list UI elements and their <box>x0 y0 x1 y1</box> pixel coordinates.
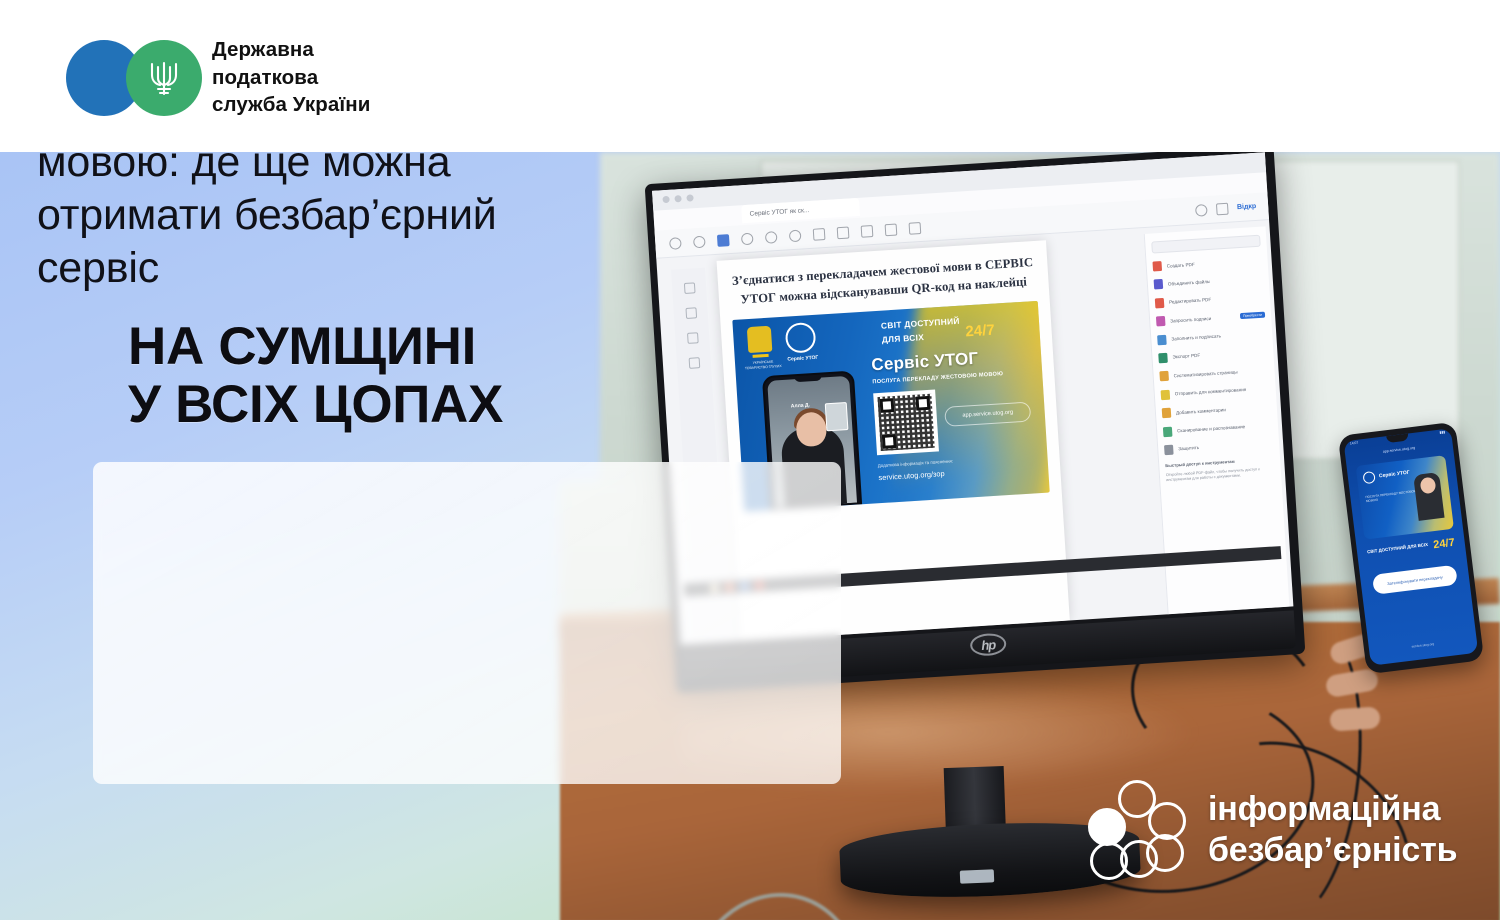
phone-service-card: Сервіс УТОГ ПОСЛУГА ПЕРЕКЛАДУ ЖЕСТОВОЮ М… <box>1356 455 1454 539</box>
tools-list-item[interactable]: Систематизировать страницы <box>1159 365 1268 382</box>
picture-in-picture <box>825 402 849 431</box>
tools-list-item[interactable]: Редактировать PDF <box>1155 291 1264 308</box>
accessibility-dots <box>1088 778 1192 882</box>
attachment-icon[interactable] <box>687 332 699 344</box>
accessibility-logo-text: інформаційна безбар’єрність <box>1208 789 1457 871</box>
utog-org-sublabel: УКРАЇНСЬКЕ ТОВАРИСТВО ГЛУХИХ <box>743 359 783 370</box>
tool-label: Сканирование и распознавание <box>1177 424 1245 433</box>
tool-icon <box>1155 298 1165 309</box>
qr-code <box>873 390 939 456</box>
tool-label: Объединить файлы <box>1168 279 1211 287</box>
tools-list-item[interactable]: Отправить для комментирования <box>1161 383 1270 400</box>
green-circle-icon <box>126 40 202 116</box>
hp-logo: hp <box>970 633 1007 657</box>
qr-eye <box>882 434 897 449</box>
org-name: Державна податкова служба України <box>212 36 370 119</box>
pdf-heading: З’єднатися з перекладачем жестової мови … <box>727 253 1039 311</box>
tools-list-item[interactable]: Добавить комментарии <box>1162 402 1271 419</box>
tool-icon <box>1161 389 1171 400</box>
tools-list-item[interactable]: Объединить файлы <box>1154 273 1263 290</box>
stamp-icon[interactable] <box>837 226 850 239</box>
tool-icon <box>1154 279 1164 290</box>
phone-status-icons: ▮▮▮ <box>1439 430 1445 438</box>
service-logo-icon <box>1362 471 1375 484</box>
person-icon[interactable] <box>1216 202 1229 215</box>
tools-list-item[interactable]: Заполнить и подписать <box>1157 328 1266 345</box>
tools-hint: Быстрый доступ к инструментам Откройте л… <box>1165 457 1275 484</box>
tool-badge[interactable]: Приобрести <box>1240 312 1265 320</box>
finger <box>1329 706 1380 731</box>
comment-icon[interactable] <box>861 225 874 238</box>
undo-icon[interactable] <box>909 222 922 235</box>
utog-logo-label: Сервіс УТОГ <box>785 355 821 363</box>
tools-list-item[interactable]: Защитить <box>1164 438 1273 455</box>
accessibility-logo: інформаційна безбар’єрність <box>1088 778 1457 882</box>
browser-tab-label: Сервіс УТОГ як ск... <box>749 206 809 217</box>
poster-canvas: Сервіс УТОГ як ск... <box>0 0 1500 920</box>
tool-label: Добавить комментарии <box>1176 407 1226 415</box>
underline-icon[interactable] <box>789 229 802 242</box>
tool-label: Редактировать PDF <box>1169 297 1211 305</box>
dot-filled-icon <box>1088 808 1126 846</box>
draw-icon[interactable] <box>885 223 898 236</box>
tool-icon <box>1157 334 1167 345</box>
tools-search-input[interactable] <box>1151 235 1261 254</box>
tools-list-item[interactable]: Экспорт PDF <box>1158 346 1267 363</box>
tools-list-item[interactable]: Запросить подписиПриобрести <box>1156 310 1265 327</box>
highlight-icon[interactable] <box>765 231 778 244</box>
phone-card-title: Сервіс УТОГ <box>1379 470 1410 480</box>
phone-time: 14:07 <box>1350 441 1359 449</box>
page-title: НА СУМЩИНІ У ВСІХ ЦОПАХ <box>128 318 503 434</box>
tool-icon <box>1156 316 1166 327</box>
tool-label: Создать PDF <box>1167 261 1195 268</box>
dps-logo[interactable]: Державна податкова служба України <box>66 36 370 119</box>
phone-call-button[interactable]: Зателефонувати перекладачу <box>1372 565 1458 595</box>
text-card <box>93 462 841 784</box>
monitor-sticker <box>960 869 995 883</box>
phone-slogan: СВІТ ДОСТУПНИЙ ДЛЯ ВСІХ <box>1367 541 1433 555</box>
share-button[interactable]: Відкр <box>1237 203 1257 211</box>
utog-logo-mark <box>785 322 817 354</box>
phone-appbar-title: app.service.utog.org <box>1383 446 1416 454</box>
tool-label: Отправить для комментирования <box>1175 387 1247 396</box>
tool-label: Запросить подписи <box>1170 316 1211 324</box>
tools-list: Создать PDFОбъединить файлыРедактировать… <box>1152 255 1273 455</box>
utog-hand-emblem <box>747 326 773 353</box>
tool-icon <box>1159 371 1169 382</box>
logo-circles <box>66 38 206 118</box>
tool-icon <box>1162 408 1172 419</box>
utog-hand-emblem-base <box>753 354 769 358</box>
pan-tool-icon[interactable] <box>741 232 754 245</box>
caller-name: Алла Д. <box>791 403 810 410</box>
phone-247-badge: 24/7 <box>1433 537 1456 552</box>
tools-list-item[interactable]: Создать PDF <box>1152 255 1261 272</box>
bookmark-icon[interactable] <box>685 307 697 319</box>
sign-icon[interactable] <box>813 228 826 241</box>
tools-list-item[interactable]: Сканирование и распознавание <box>1163 420 1272 437</box>
qr-eye <box>880 398 895 413</box>
phone-footer-url: service.utog.org <box>1369 637 1477 654</box>
tool-icon <box>1158 353 1168 364</box>
tryzub-icon <box>147 58 181 98</box>
layers-icon[interactable] <box>688 357 700 369</box>
tool-label: Систематизировать страницы <box>1174 369 1238 378</box>
dot-ring-icon <box>1146 834 1184 872</box>
header-band: Державна податкова служба України <box>0 0 1500 152</box>
tool-label: Экспорт PDF <box>1172 353 1200 360</box>
tool-icon <box>1164 445 1174 456</box>
tool-icon <box>1163 426 1173 437</box>
tool-label: Защитить <box>1178 445 1199 451</box>
tool-label: Заполнить и подписать <box>1171 333 1221 341</box>
tool-icon <box>1152 261 1162 272</box>
poster-247-badge: 24/7 <box>965 322 995 341</box>
tools-hint-body: Откройте любой PDF-файл, чтобы получить … <box>1166 467 1260 483</box>
phone-card-subtitle: ПОСЛУГА ПЕРЕКЛАДУ ЖЕСТОВОЮ МОВОЮ <box>1365 489 1418 503</box>
qr-eye <box>915 396 930 411</box>
clock-icon[interactable] <box>1195 204 1208 217</box>
